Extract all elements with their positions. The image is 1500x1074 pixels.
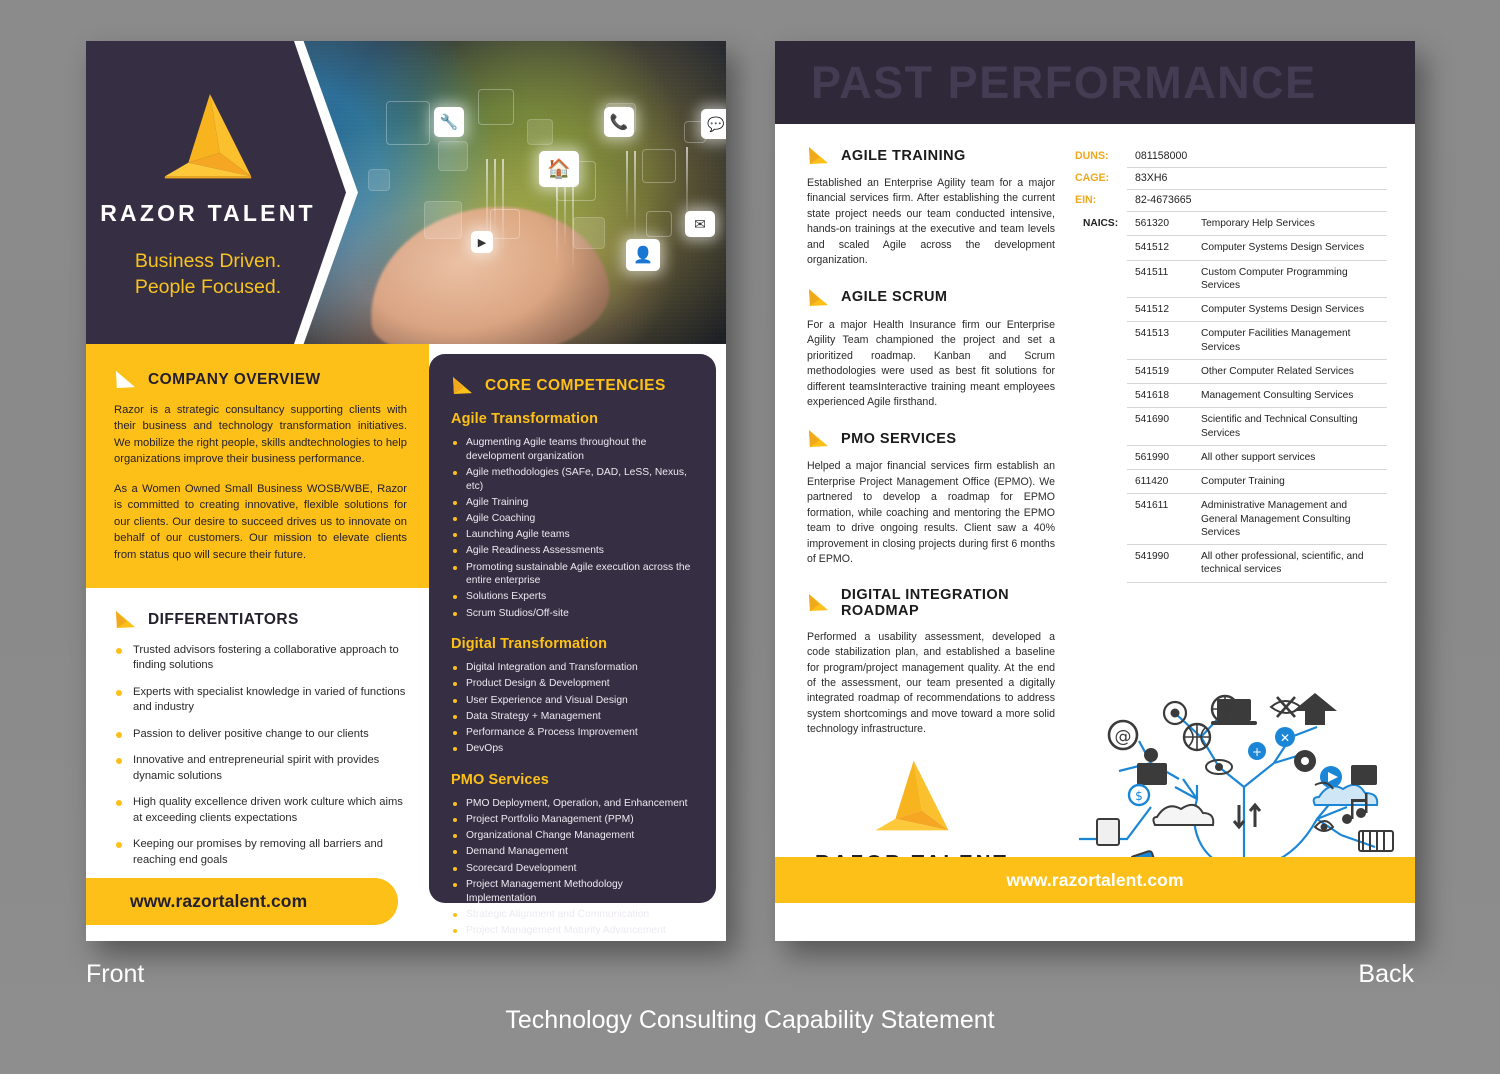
past-performance-block-body: For a major Health Insurance firm our En… [807,318,1055,411]
past-performance-block-body: Established an Enterprise Agility team f… [807,176,1055,269]
past-performance-block-header: AGILE SCRUM [807,288,1055,307]
identifier-label: EIN: [1075,190,1127,212]
back-body: AGILE TRAININGEstablished an Enterprise … [775,124,1415,903]
core-competency-item: User Experience and Visual Design [451,694,696,708]
naics-code: 541513 [1127,322,1193,360]
past-performance-block: DIGITAL INTEGRATION ROADMAPPerformed a u… [807,587,1055,738]
core-group-heading: Agile Transformation [451,411,696,427]
naics-table: NAICS:561320Temporary Help Services54151… [1075,212,1387,583]
naics-row: NAICS:561320Temporary Help Services [1075,212,1387,236]
past-performance-block-body: Helped a major financial services firm e… [807,459,1055,567]
company-overview-title: COMPANY OVERVIEW [148,371,321,389]
core-competency-item: Digital Integration and Transformation [451,661,696,675]
naics-description: All other support services [1193,445,1387,469]
naics-code: 541690 [1127,408,1193,446]
brand-wordmark: RAZOR TALENT [100,200,316,227]
naics-code: 561990 [1127,445,1193,469]
naics-row: 541690Scientific and Technical Consultin… [1075,408,1387,446]
core-competency-item: Organizational Change Management [451,829,696,843]
naics-description: Temporary Help Services [1193,212,1387,236]
arrow-bullet-icon [807,429,830,448]
front-website-footer[interactable]: www.razortalent.com [86,878,398,925]
naics-description: Custom Computer Programming Services [1193,260,1387,298]
naics-code: 541519 [1127,359,1193,383]
naics-row: 541513Computer Facilities Management Ser… [1075,322,1387,360]
naics-row: 541618Management Consulting Services [1075,384,1387,408]
naics-code: 541511 [1127,260,1193,298]
naics-description: Management Consulting Services [1193,384,1387,408]
naics-label-spacer [1075,494,1127,545]
past-performance-block: PMO SERVICESHelped a major financial ser… [807,429,1055,567]
past-performance-block-title: PMO SERVICES [841,431,957,447]
identifiers-table: DUNS:081158000CAGE:83XH6EIN:82-4673665 [1075,146,1387,212]
differentiator-item: Trusted advisors fostering a collaborati… [114,643,409,674]
arrow-bullet-icon [807,288,830,307]
core-competency-item: Augmenting Agile teams throughout the de… [451,436,696,463]
back-page: PAST PERFORMANCE AGILE TRAININGEstablish… [775,41,1415,941]
core-competency-item: Scorecard Development [451,862,696,876]
company-overview-header: COMPANY OVERVIEW [114,370,407,389]
front-website-text: www.razortalent.com [130,891,307,912]
company-overview-section: COMPANY OVERVIEW Razor is a strategic co… [86,344,429,588]
razor-talent-logo-icon [862,759,962,847]
past-performance-blocks: AGILE TRAININGEstablished an Enterprise … [807,146,1055,738]
naics-label-spacer [1075,260,1127,298]
past-performance-block-title: AGILE TRAINING [841,148,966,164]
past-performance-block: AGILE TRAININGEstablished an Enterprise … [807,146,1055,269]
past-performance-block-title: DIGITAL INTEGRATION ROADMAP [841,587,1055,619]
core-competencies-title: CORE COMPETENCIES [485,377,666,395]
identifier-value: 82-4673665 [1127,190,1387,212]
naics-description: Scientific and Technical Consulting Serv… [1193,408,1387,446]
identifier-label: CAGE: [1075,168,1127,190]
core-competency-item: Product Design & Development [451,677,696,691]
tagline-line-2: People Focused. [135,275,281,301]
naics-code: 541512 [1127,236,1193,260]
core-competency-item: Data Strategy + Management [451,710,696,724]
core-competency-item: Agile Coaching [451,512,696,526]
naics-row: 541990All other professional, scientific… [1075,545,1387,583]
brand-tagline: Business Driven. People Focused. [135,249,281,300]
differentiator-item: Keeping our promises by removing all bar… [114,837,409,868]
differentiators-header: DIFFERENTIATORS [114,610,409,629]
past-performance-block-body: Performed a usability assessment, develo… [807,630,1055,738]
front-page: 🔧 📞 💬 🏠 ▶ ✉ 👤 RAZOR TALENT [86,41,726,941]
past-performance-block-header: AGILE TRAINING [807,146,1055,165]
core-competency-item: Project Management Methodology Implement… [451,878,696,905]
core-competencies-section: CORE COMPETENCIES Agile TransformationAu… [429,354,716,903]
naics-code: 541990 [1127,545,1193,583]
svg-text:@: @ [1115,727,1132,747]
naics-label-spacer [1075,236,1127,260]
core-competency-item: Scrum Studios/Off-site [451,607,696,621]
naics-description: Computer Systems Design Services [1193,298,1387,322]
core-competencies-header: CORE COMPETENCIES [451,376,696,395]
naics-label-spacer [1075,470,1127,494]
past-performance-block-header: PMO SERVICES [807,429,1055,448]
core-competency-item: Project Management Maturity Advancement [451,924,696,938]
arrow-bullet-icon [114,610,137,629]
caption-main: Technology Consulting Capability Stateme… [0,1006,1500,1035]
naics-description: Computer Systems Design Services [1193,236,1387,260]
core-competency-item: Project Portfolio Management (PPM) [451,813,696,827]
core-group-heading: PMO Services [451,772,696,788]
naics-description: Administrative Management and General Ma… [1193,494,1387,545]
differentiator-item: Experts with specialist knowledge in var… [114,685,409,716]
naics-label-spacer [1075,445,1127,469]
core-competency-item: Agile Readiness Assessments [451,544,696,558]
differentiator-item: Innovative and entrepreneurial spirit wi… [114,753,409,784]
core-group-list: PMO Deployment, Operation, and Enhanceme… [451,797,696,938]
past-performance-title: PAST PERFORMANCE [811,57,1317,109]
front-body: COMPANY OVERVIEW Razor is a strategic co… [86,344,726,941]
company-overview-paragraph-2: As a Women Owned Small Business WOSB/WBE… [114,481,407,563]
caption-front: Front [86,960,144,989]
naics-description: Other Computer Related Services [1193,359,1387,383]
razor-talent-logo-icon [149,92,267,196]
core-competency-item: PMO Deployment, Operation, and Enhanceme… [451,797,696,811]
core-competency-item: Promoting sustainable Agile execution ac… [451,561,696,588]
identifier-label: DUNS: [1075,146,1127,168]
caption-back: Back [1358,960,1414,989]
past-performance-band: PAST PERFORMANCE [775,41,1415,124]
past-performance-block-title: AGILE SCRUM [841,289,947,305]
naics-label-spacer [1075,545,1127,583]
phone-icon: 📞 [604,107,634,137]
naics-label-spacer [1075,408,1127,446]
core-competency-item: Solutions Experts [451,590,696,604]
differentiator-item: High quality excellence driven work cult… [114,795,409,826]
differentiators-title: DIFFERENTIATORS [148,611,299,629]
home-icon: 🏠 [539,151,579,187]
arrow-bullet-icon [807,593,830,612]
identifier-row: EIN:82-4673665 [1075,190,1387,212]
naics-label-spacer [1075,384,1127,408]
naics-row: 561990All other support services [1075,445,1387,469]
core-group-list: Digital Integration and TransformationPr… [451,661,696,756]
naics-code: 561320 [1127,212,1193,236]
brand-logo-block: RAZOR TALENT Business Driven. People Foc… [86,41,336,344]
identifier-row: CAGE:83XH6 [1075,168,1387,190]
play-icon: ▶ [471,231,493,253]
svg-text:+: + [1252,745,1262,759]
naics-row: 541611Administrative Management and Gene… [1075,494,1387,545]
identifier-value: 081158000 [1127,146,1387,168]
core-competency-item: Strategic Alignment and Communication [451,908,696,922]
naics-row: 541512Computer Systems Design Services [1075,236,1387,260]
naics-description: All other professional, scientific, and … [1193,545,1387,583]
naics-row: 541512Computer Systems Design Services [1075,298,1387,322]
hero-banner: 🔧 📞 💬 🏠 ▶ ✉ 👤 RAZOR TALENT [86,41,726,344]
naics-row: 541511Custom Computer Programming Servic… [1075,260,1387,298]
naics-code: 611420 [1127,470,1193,494]
past-performance-block: AGILE SCRUMFor a major Health Insurance … [807,288,1055,411]
core-competencies-groups: Agile TransformationAugmenting Agile tea… [451,411,696,938]
chat-icon: 💬 [701,109,726,139]
naics-code: 541618 [1127,384,1193,408]
back-website-text: www.razortalent.com [1006,870,1183,891]
naics-label-spacer [1075,322,1127,360]
core-competency-item: Agile methodologies (SAFe, DAD, LeSS, Ne… [451,466,696,493]
svg-text:$: $ [1135,789,1143,803]
user-icon: 👤 [626,239,660,271]
core-competency-item: Launching Agile teams [451,528,696,542]
wrench-icon: 🔧 [434,107,464,137]
differentiators-list: Trusted advisors fostering a collaborati… [114,643,409,868]
core-group-heading: Digital Transformation [451,636,696,652]
naics-row: 611420Computer Training [1075,470,1387,494]
core-competency-item: DevOps [451,742,696,756]
past-performance-block-header: DIGITAL INTEGRATION ROADMAP [807,587,1055,619]
naics-row: 541519Other Computer Related Services [1075,359,1387,383]
identifier-value: 83XH6 [1127,168,1387,190]
screenshot-stage: 🔧 📞 💬 🏠 ▶ ✉ 👤 RAZOR TALENT [0,0,1500,1074]
naics-code: 541611 [1127,494,1193,545]
naics-code: 541512 [1127,298,1193,322]
arrow-bullet-icon [451,376,474,395]
arrow-bullet-icon [807,146,830,165]
tagline-line-1: Business Driven. [135,249,281,275]
svg-text:✕: ✕ [1280,731,1290,745]
mail-icon: ✉ [685,211,715,237]
core-competency-item: Demand Management [451,845,696,859]
arrow-bullet-icon [114,370,137,389]
differentiator-item: Passion to deliver positive change to ou… [114,727,409,742]
core-competency-item: Agile Training [451,496,696,510]
naics-description: Computer Facilities Management Services [1193,322,1387,360]
naics-description: Computer Training [1193,470,1387,494]
core-group-list: Augmenting Agile teams throughout the de… [451,436,696,620]
naics-label-spacer [1075,298,1127,322]
core-competency-item: Performance & Process Improvement [451,726,696,740]
back-website-footer[interactable]: www.razortalent.com [775,857,1415,903]
company-overview-paragraph-1: Razor is a strategic consultancy support… [114,402,407,468]
naics-label: NAICS: [1075,212,1127,236]
naics-label-spacer [1075,359,1127,383]
identifier-row: DUNS:081158000 [1075,146,1387,168]
